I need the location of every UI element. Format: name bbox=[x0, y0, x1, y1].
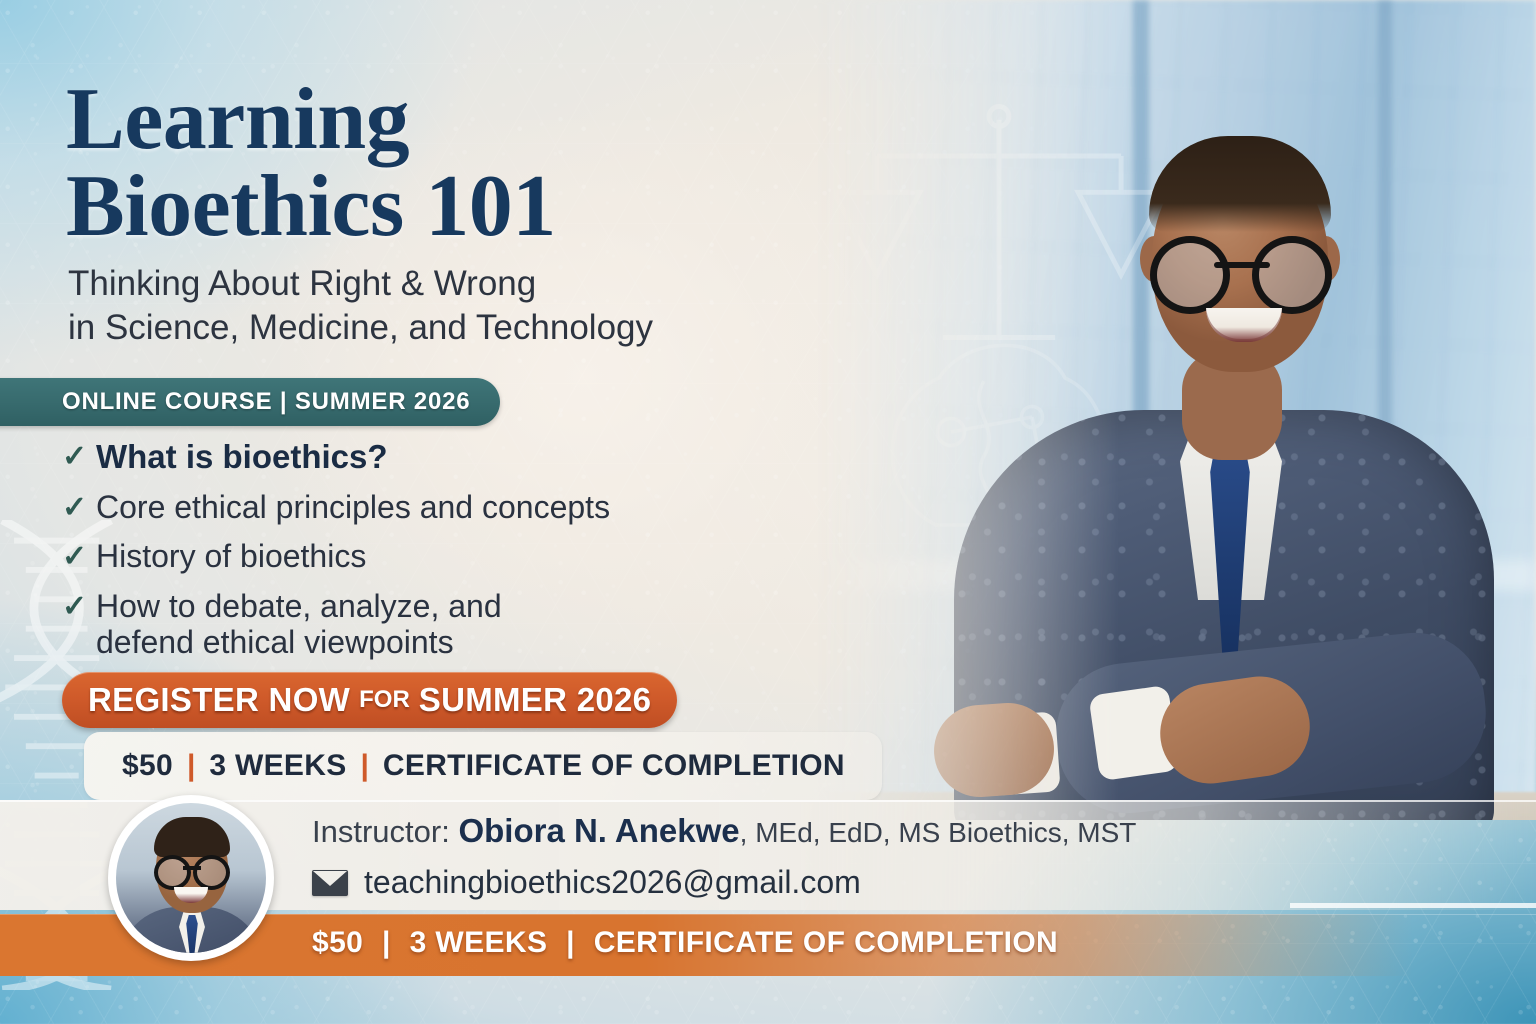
subtitle-line-2: in Science, Medicine, and Technology bbox=[68, 306, 748, 350]
list-item-label: What is bioethics? bbox=[96, 438, 388, 476]
flyer-poster: Learning Bioethics 101 Thinking About Ri… bbox=[0, 0, 1536, 1024]
instructor-photo bbox=[816, 0, 1536, 820]
instructor-name: Obiora N. Anekwe bbox=[458, 812, 739, 849]
course-topics-list: ✓ What is bioethics? ✓ Core ethical prin… bbox=[62, 438, 822, 673]
avatar-image bbox=[116, 803, 266, 953]
lens-right bbox=[193, 855, 230, 890]
instructor-credentials: , MEd, EdD, MS Bioethics, MST bbox=[740, 817, 1137, 848]
instructor-label: Instructor: bbox=[312, 814, 450, 849]
separator: | bbox=[382, 926, 391, 959]
register-now-button[interactable]: REGISTER NOW FOR SUMMER 2026 bbox=[62, 672, 677, 728]
list-item: ✓ What is bioethics? bbox=[62, 438, 822, 476]
separator: | bbox=[361, 749, 369, 783]
title-line-2: Bioethics 101 bbox=[66, 163, 786, 250]
footer-details-text: $50 | 3 WEEKS | CERTIFICATE OF COMPLETIO… bbox=[312, 926, 1058, 960]
avatar-eyeglasses-icon bbox=[154, 855, 230, 883]
list-item: ✓ History of bioethics bbox=[62, 538, 822, 574]
glasses-bridge bbox=[1214, 262, 1270, 268]
separator: | bbox=[187, 749, 195, 783]
footer-duration-label: 3 WEEKS bbox=[410, 926, 548, 959]
footer-divider-line bbox=[1290, 903, 1536, 908]
cta-mid-label: FOR bbox=[359, 686, 410, 714]
list-item: ✓ How to debate, analyze, and defend eth… bbox=[62, 588, 822, 661]
status-badge: ONLINE COURSE | SUMMER 2026 bbox=[0, 378, 500, 426]
check-icon: ✓ bbox=[62, 538, 96, 572]
price-label: $50 bbox=[122, 749, 173, 783]
course-details-bar: $50 | 3 WEEKS | CERTIFICATE OF COMPLETIO… bbox=[84, 732, 882, 800]
list-item-label: Core ethical principles and concepts bbox=[96, 489, 610, 525]
glasses-bridge bbox=[183, 866, 201, 870]
instructor-figure bbox=[944, 50, 1504, 820]
duration-label: 3 WEEKS bbox=[209, 749, 346, 783]
envelope-icon bbox=[312, 870, 348, 896]
title-line-1: Learning bbox=[66, 76, 786, 163]
cta-tail-label: SUMMER 2026 bbox=[419, 681, 652, 719]
list-item-label: History of bioethics bbox=[96, 538, 366, 574]
check-icon: ✓ bbox=[62, 588, 96, 622]
list-item: ✓ Core ethical principles and concepts bbox=[62, 489, 822, 525]
lens-right bbox=[1252, 236, 1332, 314]
lens-left bbox=[1150, 236, 1230, 314]
cta-lead-label: REGISTER NOW bbox=[88, 681, 350, 719]
footer-price-label: $50 bbox=[312, 926, 363, 959]
footer-certificate-label: CERTIFICATE OF COMPLETION bbox=[594, 926, 1058, 959]
list-item-label: How to debate, analyze, and defend ethic… bbox=[96, 588, 566, 661]
certificate-label: CERTIFICATE OF COMPLETION bbox=[383, 749, 845, 783]
lens-left bbox=[154, 855, 191, 890]
hair bbox=[1149, 136, 1331, 232]
avatar bbox=[108, 795, 274, 961]
email-address: teachingbioethics2026@gmail.com bbox=[364, 864, 861, 901]
check-icon: ✓ bbox=[62, 489, 96, 523]
page-title: Learning Bioethics 101 bbox=[66, 76, 786, 250]
subtitle-line-1: Thinking About Right & Wrong bbox=[68, 262, 748, 306]
avatar-hair bbox=[154, 817, 230, 857]
separator: | bbox=[566, 926, 575, 959]
check-icon: ✓ bbox=[62, 438, 96, 472]
eyeglasses-icon bbox=[1150, 236, 1332, 302]
instructor-line: Instructor: Obiora N. Anekwe, MEd, EdD, … bbox=[312, 812, 1136, 850]
subtitle: Thinking About Right & Wrong in Science,… bbox=[68, 262, 748, 350]
contact-email-row[interactable]: teachingbioethics2026@gmail.com bbox=[312, 864, 861, 901]
badge-label: ONLINE COURSE | SUMMER 2026 bbox=[62, 388, 470, 416]
